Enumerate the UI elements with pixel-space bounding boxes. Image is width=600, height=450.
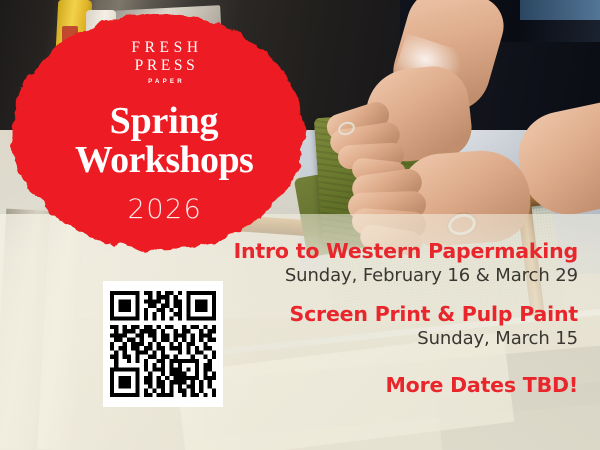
logo-line-paper: PAPER <box>145 78 185 85</box>
logo-line-press: PRESS <box>132 56 199 75</box>
listing-spacer <box>178 287 578 303</box>
workshop-name-2: Screen Print & Pulp Paint <box>178 303 578 326</box>
badge-title-line2: Workshops <box>75 141 253 180</box>
workshop-dates-1: Sunday, February 16 & March 29 <box>178 264 578 287</box>
badge-title-line1: Spring <box>75 102 253 141</box>
poster-canvas: FRESH PRESS PAPER Spring Workshops 2026 <box>0 0 600 450</box>
workshop-item: Screen Print & Pulp Paint Sunday, March … <box>178 303 578 350</box>
workshop-listing: Intro to Western Papermaking Sunday, Feb… <box>178 240 578 397</box>
workshop-item: Intro to Western Papermaking Sunday, Feb… <box>178 240 578 287</box>
logo-line-fresh: FRESH <box>127 40 202 56</box>
badge-year: 2026 <box>128 194 203 225</box>
workshop-dates-2: Sunday, March 15 <box>178 327 578 350</box>
red-stamp-badge: FRESH PRESS PAPER Spring Workshops 2026 <box>8 14 308 254</box>
more-dates-note: More Dates TBD! <box>178 373 578 397</box>
fresh-press-logo: FRESH PRESS PAPER <box>127 40 202 85</box>
badge-title: Spring Workshops <box>75 102 253 180</box>
blue-reflection <box>520 0 600 20</box>
badge-content: FRESH PRESS PAPER Spring Workshops 2026 <box>8 14 308 254</box>
workshop-name-1: Intro to Western Papermaking <box>178 240 578 263</box>
